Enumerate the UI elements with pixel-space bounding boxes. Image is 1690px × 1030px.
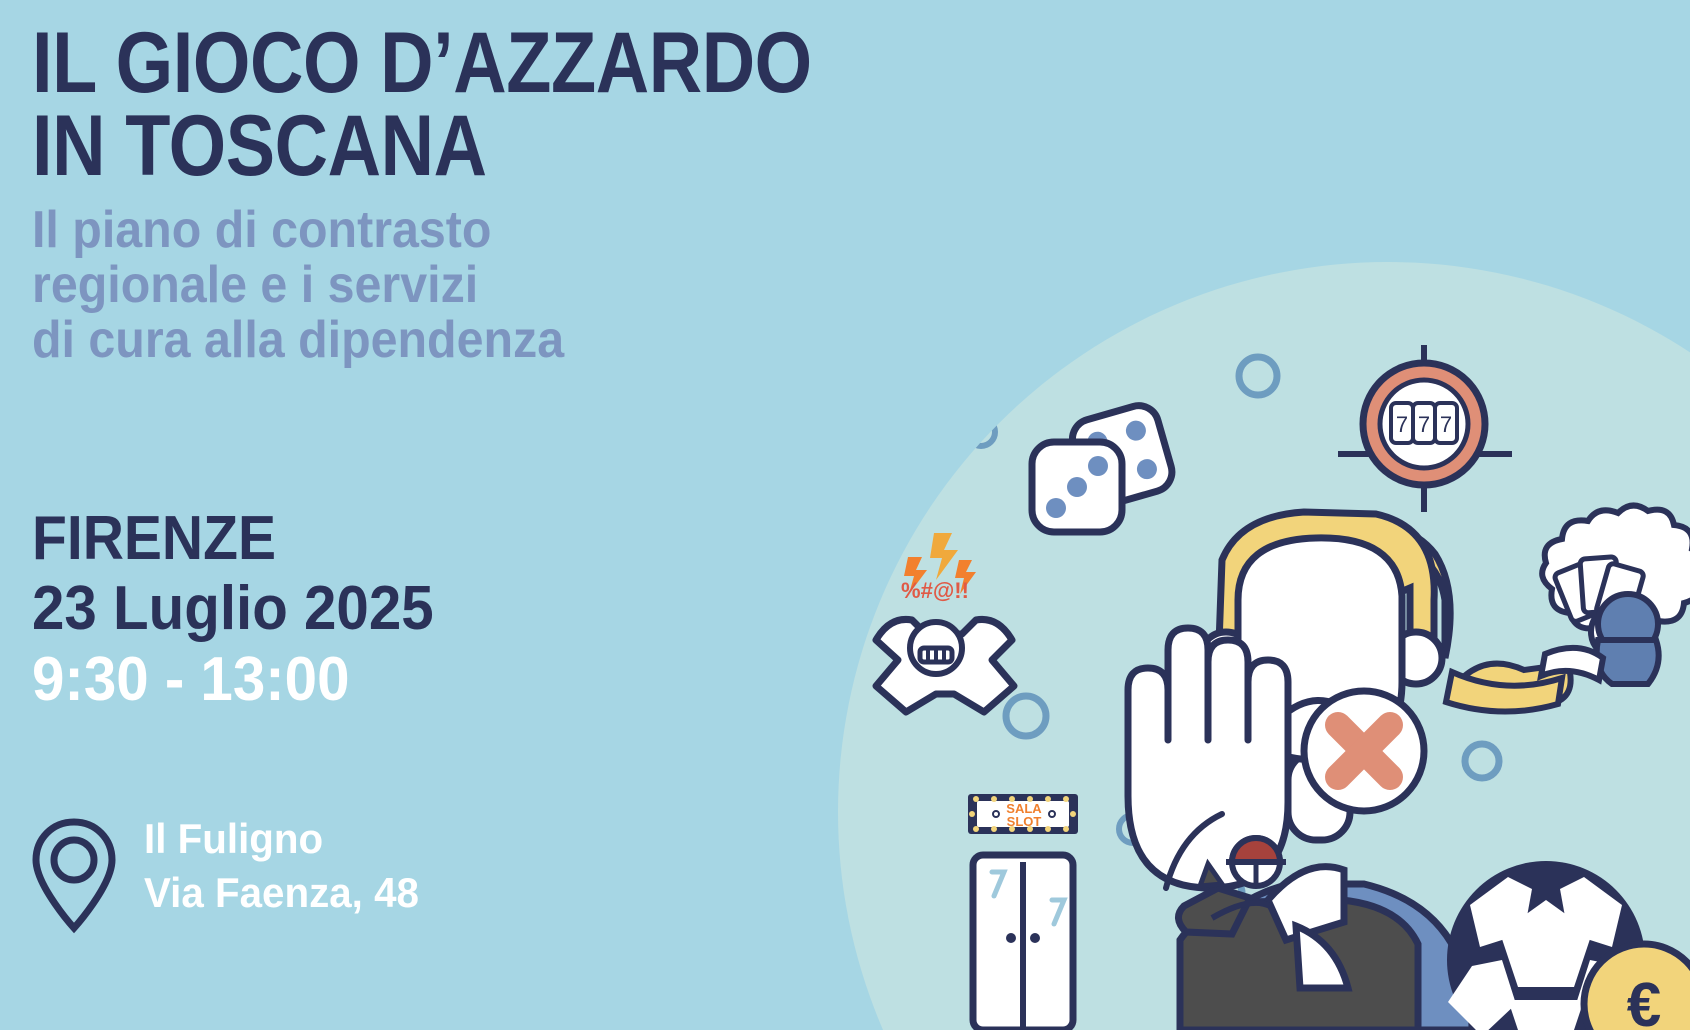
x-circle-icon (1304, 691, 1424, 811)
sala-slot-line2: SLOT (1007, 814, 1042, 829)
venue-block: Il Fuligno Via Faenza, 48 (30, 812, 430, 939)
dice-pair-icon (1032, 401, 1177, 532)
poster-root: 7 7 7 %#@!! (0, 0, 1690, 1030)
svg-text:7: 7 (1418, 412, 1430, 437)
svg-text:7: 7 (1440, 412, 1452, 437)
slot-machine-777-icon: 7 7 7 (1338, 345, 1512, 512)
event-city: FIRENZE (32, 508, 425, 570)
page-title: IL GIOCO D’AZZARDO IN TOSCANA (32, 22, 892, 189)
event-date: 23 Luglio 2025 (32, 576, 434, 643)
venue-text: Il Fuligno Via Faenza, 48 (144, 812, 419, 920)
euro-symbol-text: € (1627, 971, 1661, 1030)
headline-block: IL GIOCO D’AZZARDO IN TOSCANA Il piano d… (32, 22, 1032, 368)
location-pin-icon (30, 816, 118, 939)
page-subtitle: Il piano di contrasto regionale e i serv… (32, 203, 962, 368)
angry-face-fists-icon: %#@!! (876, 533, 1014, 712)
venue-name: Il Fuligno (144, 812, 419, 866)
angry-symbols-text: %#@!! (901, 578, 969, 603)
event-details-block: FIRENZE 23 Luglio 2025 9:30 - 13:00 (32, 508, 459, 714)
event-time: 9:30 - 13:00 (32, 647, 434, 714)
venue-address: Via Faenza, 48 (144, 866, 419, 920)
seated-gambler-icon (1446, 594, 1659, 712)
svg-text:7: 7 (1396, 412, 1408, 437)
sala-slot-sign: SALA SLOT (968, 794, 1078, 834)
slot-cabinet-icon (973, 855, 1073, 1030)
